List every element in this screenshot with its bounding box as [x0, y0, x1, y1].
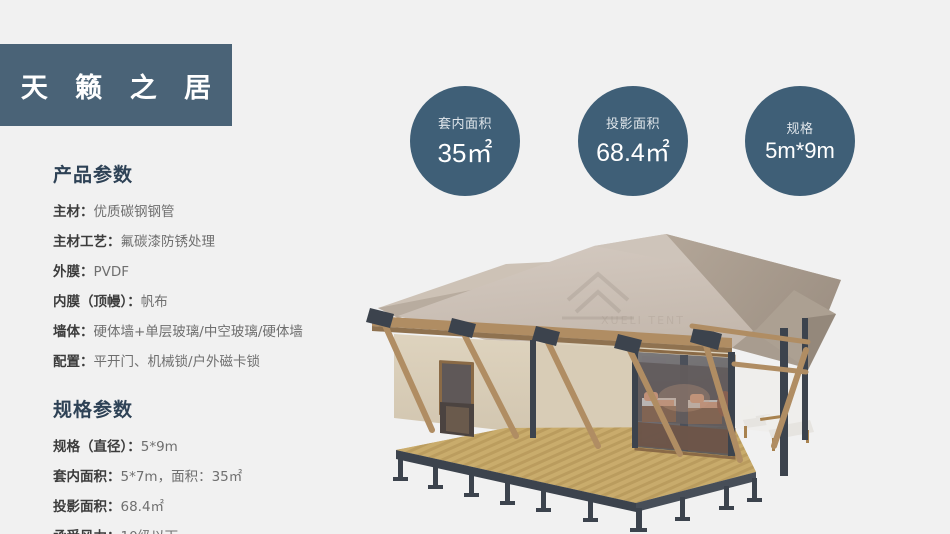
foundation-leg-foot [630, 528, 647, 532]
foundation-leg [398, 457, 403, 479]
stat-value: 35㎡ [438, 133, 493, 170]
spec-row: 配置：平开门、机械锁/户外磁卡锁 [53, 347, 380, 377]
stat-circle-indoor-area: 套内面积 35㎡ [410, 86, 520, 196]
page-title: 天 籁 之 居 [12, 66, 220, 105]
spec-value: 5*9m [141, 439, 178, 455]
foundation-leg [505, 481, 510, 503]
spec-value: 平开门、机械锁/户外磁卡锁 [94, 354, 261, 370]
stat-label: 套内面积 [438, 113, 492, 132]
foundation-leg-foot [719, 506, 734, 510]
specification-panel: 产品参数 主材：优质碳钢钢管 主材工艺：氟碳漆防锈处理 外膜：PVDF 内膜（顶… [0, 160, 380, 534]
spec-value: 优质碳钢钢管 [94, 204, 175, 220]
steel-post [802, 318, 808, 440]
spec-row: 承受风力：10级以下 [53, 522, 380, 534]
spec-value: 5*7m，面积：35㎡ [121, 469, 243, 485]
stat-label: 投影面积 [606, 113, 660, 132]
foundation-leg-foot [393, 477, 408, 481]
spec-label: 投影面积： [53, 499, 121, 515]
tent-render-image: XUELI TENT [336, 222, 950, 534]
foundation-leg [588, 498, 593, 520]
foundation-leg [433, 465, 438, 487]
foundation-leg [636, 508, 642, 530]
spec-value: 帆布 [141, 294, 168, 310]
spec-label: 主材： [53, 204, 94, 220]
spec-value: 68.4㎡ [121, 499, 165, 515]
spec-row: 套内面积：5*7m，面积：35㎡ [53, 462, 380, 492]
foundation-leg-foot [583, 518, 598, 522]
foundation-leg-foot [500, 501, 515, 505]
steel-post [530, 340, 536, 438]
spec-row: 内膜（顶幔）：帆布 [53, 287, 380, 317]
spec-list-specification: 规格（直径）：5*9m 套内面积：5*7m，面积：35㎡ 投影面积：68.4㎡ … [53, 432, 380, 534]
spec-label: 承受风力： [53, 529, 121, 534]
stat-label: 规格 [786, 118, 813, 137]
spec-row: 规格（直径）：5*9m [53, 432, 380, 462]
spec-label: 套内面积： [53, 469, 121, 485]
spec-list-product: 主材：优质碳钢钢管 主材工艺：氟碳漆防锈处理 外膜：PVDF 内膜（顶幔）：帆布… [53, 197, 380, 377]
stat-value: 68.4㎡ [596, 133, 670, 169]
foundation-leg [541, 488, 546, 510]
foundation-leg [469, 473, 474, 495]
section-divider [0, 377, 380, 395]
spec-label: 配置： [53, 354, 94, 370]
foundation-leg-foot [675, 517, 690, 521]
foundation-leg-foot [747, 498, 762, 502]
spec-value: 10级以下 [121, 529, 179, 534]
spec-value: 硬体墙+单层玻璃/中空玻璃/硬体墙 [94, 324, 303, 340]
section-title-specification-parameters: 规格参数 [53, 395, 380, 422]
spec-row: 外膜：PVDF [53, 257, 380, 287]
foundation-leg [724, 486, 729, 508]
spec-label: 墙体： [53, 324, 94, 340]
spec-label: 内膜（顶幔）： [53, 294, 141, 310]
spec-row: 墙体：硬体墙+单层玻璃/中空玻璃/硬体墙 [53, 317, 380, 347]
stat-value: 5m*9m [765, 138, 835, 164]
foundation-leg-foot [464, 493, 479, 497]
stat-circle-dimensions: 规格 5m*9m [745, 86, 855, 196]
spec-row: 投影面积：68.4㎡ [53, 492, 380, 522]
foundation-leg [752, 478, 757, 500]
foundation-leg-foot [536, 508, 551, 512]
title-banner: 天 籁 之 居 [0, 44, 232, 126]
spec-value: 氟碳漆防锈处理 [121, 234, 216, 250]
foundation-leg-foot [428, 485, 443, 489]
stat-circle-projected-area: 投影面积 68.4㎡ [578, 86, 688, 196]
spec-label: 外膜： [53, 264, 94, 280]
spec-label: 规格（直径）： [53, 439, 141, 455]
glass-facade-sheen [636, 352, 732, 456]
product-spec-page: 天 籁 之 居 套内面积 35㎡ 投影面积 68.4㎡ 规格 5m*9m 产品参… [0, 0, 950, 534]
spec-label: 主材工艺： [53, 234, 121, 250]
stat-circle-group: 套内面积 35㎡ 投影面积 68.4㎡ 规格 5m*9m [400, 86, 950, 201]
spec-row: 主材：优质碳钢钢管 [53, 197, 380, 227]
spec-row: 主材工艺：氟碳漆防锈处理 [53, 227, 380, 257]
foundation-leg [680, 497, 685, 519]
entry-door-panel [446, 406, 469, 434]
spec-value: PVDF [94, 264, 130, 280]
section-title-product-parameters: 产品参数 [53, 160, 380, 187]
